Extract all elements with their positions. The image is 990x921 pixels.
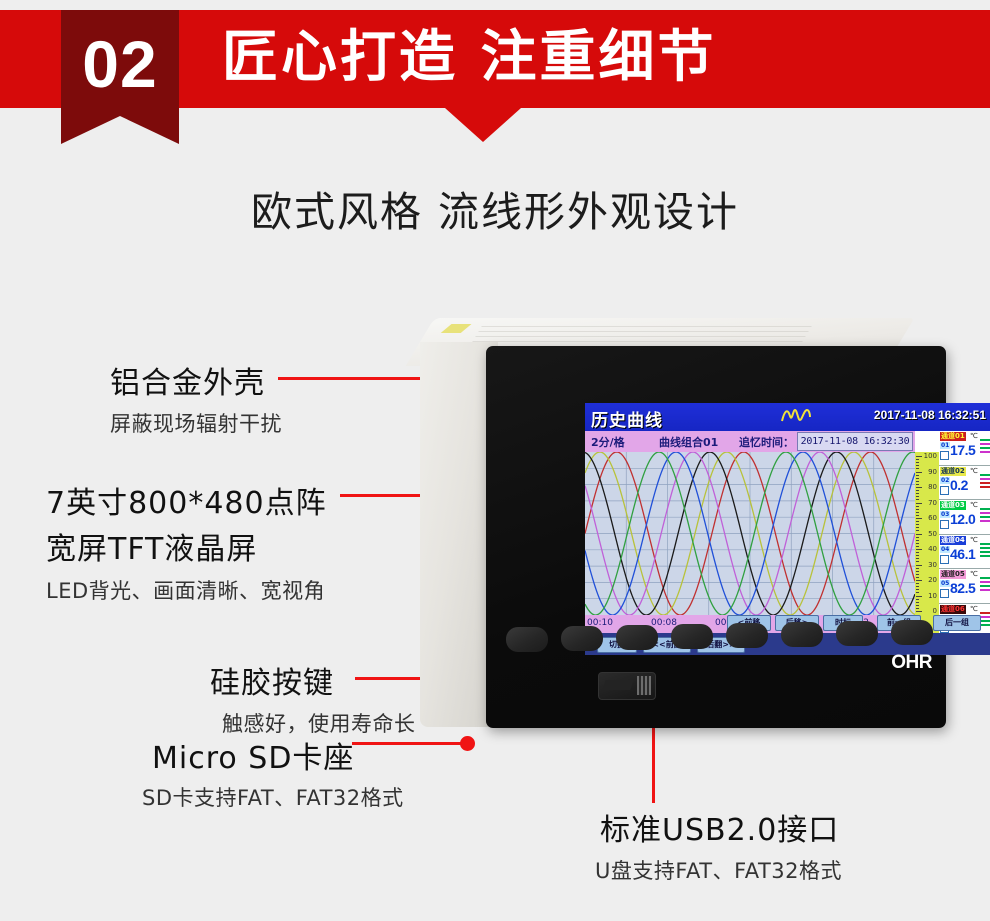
value-axis-minor-tick [916, 515, 919, 516]
value-axis-minor-tick [916, 574, 919, 575]
page-subtitle: 欧式风格 流线形外观设计 [0, 182, 990, 242]
value-axis-minor-tick [916, 546, 919, 547]
value-axis-minor-tick [916, 475, 919, 476]
value-axis-tick: 90 [928, 468, 937, 476]
channel-name-tag: 通道06 [940, 605, 966, 614]
channel-unit: ℃ [970, 432, 978, 440]
lcd-screen[interactable]: 历史曲线 2017-11-08 16:32:51 2分/格 曲线组合01 追忆时… [585, 403, 990, 655]
value-axis-minor-tick [916, 456, 919, 457]
channel-name-tag: 通道03 [940, 501, 966, 510]
value-axis-minor-tick [916, 537, 919, 538]
channel-value: 0.2 [950, 477, 968, 493]
channel-bargraph [980, 474, 990, 490]
value-axis-minor-tick [916, 524, 919, 525]
value-axis-minor-tick [916, 530, 919, 531]
channel-index: 05 [940, 580, 950, 587]
value-axis-minor-tick [916, 592, 919, 593]
value-axis-minor-tick [916, 472, 919, 473]
annotation-usb-port-desc: U盘支持FAT、FAT32格式 [595, 855, 842, 885]
silicone-key[interactable] [891, 620, 933, 645]
value-axis-tick: 60 [928, 514, 937, 522]
channel-name-tag: 通道04 [940, 536, 966, 545]
value-axis-minor-tick [916, 462, 919, 463]
lcd-recall-time[interactable]: 2017-11-08 16:32:30 [797, 432, 913, 451]
silicone-key[interactable] [836, 621, 878, 646]
channel-value: 82.5 [950, 580, 975, 596]
device-front-bezel: 历史曲线 2017-11-08 16:32:51 2分/格 曲线组合01 追忆时… [486, 346, 946, 728]
channel-unit: ℃ [970, 501, 978, 509]
channel-value: 12.0 [950, 511, 975, 527]
channel-value: 17.5 [950, 442, 975, 458]
device-photo: 历史曲线 2017-11-08 16:32:51 2分/格 曲线组合01 追忆时… [414, 318, 954, 758]
brand-logo: OHR [891, 652, 932, 674]
value-axis-minor-tick [916, 565, 919, 566]
lcd-clock: 2017-11-08 16:32:51 [874, 408, 986, 422]
channel-bargraph [980, 577, 990, 593]
lcd-titlebar: 历史曲线 2017-11-08 16:32:51 [585, 403, 990, 431]
value-axis-minor-tick [916, 518, 919, 519]
channel-bargraph [980, 508, 990, 524]
section-number: 02 [61, 26, 179, 102]
value-axis-minor-tick [916, 496, 919, 497]
channel-row[interactable]: 通道01℃0117.5 [939, 431, 990, 466]
channel-index: 02 [940, 477, 950, 484]
annotation-usb-port: 标准USB2.0接口 U盘支持FAT、FAT32格式 [600, 805, 842, 885]
value-axis-minor-tick [916, 493, 919, 494]
silicone-key[interactable] [616, 625, 658, 650]
value-axis-tick: 100 [924, 452, 937, 460]
lcd-recall-label: 追忆时间： [739, 434, 794, 450]
value-axis-minor-tick [916, 558, 919, 559]
annotation-silicone-keys: 硅胶按键 触感好，使用寿命长 [210, 658, 416, 738]
silicone-key-row[interactable] [506, 620, 931, 650]
value-axis-minor-tick [916, 552, 919, 553]
channel-enable-checkbox[interactable] [940, 589, 949, 598]
value-axis-minor-tick [916, 599, 919, 600]
value-axis-minor-tick [916, 561, 919, 562]
value-axis-minor-tick [916, 608, 919, 609]
softkey-houyizu[interactable]: 后一组 [933, 615, 981, 631]
value-axis-minor-tick [916, 468, 919, 469]
lcd-page-title: 历史曲线 [591, 406, 663, 431]
annotation-micro-sd-desc: SD卡支持FAT、FAT32格式 [142, 782, 404, 812]
value-axis-tick: 80 [928, 483, 937, 491]
silicone-key[interactable] [671, 624, 713, 649]
channel-name-tag: 通道01 [940, 432, 966, 441]
silicone-key[interactable] [561, 626, 603, 651]
channel-enable-checkbox[interactable] [940, 555, 949, 564]
waveform-icon [781, 407, 811, 428]
section-ribbon: 02 [61, 10, 179, 144]
annotation-usb-port-title: 标准USB2.0接口 [600, 805, 842, 849]
usb-slot [637, 676, 651, 695]
annotation-tft-screen-desc: LED背光、画面清晰、宽视角 [46, 575, 327, 605]
channel-index: 03 [940, 511, 950, 518]
channel-unit: ℃ [970, 536, 978, 544]
value-axis-tick: 40 [928, 545, 937, 553]
channel-row[interactable]: 通道03℃0312.0 [939, 500, 990, 535]
value-axis-minor-tick [916, 568, 919, 569]
annotation-aluminum-case-title: 铝合金外壳 [110, 358, 282, 402]
channel-row[interactable]: 通道02℃020.2 [939, 466, 990, 501]
value-axis-minor-tick [916, 465, 919, 466]
channel-readout-panel: 通道01℃0117.5通道02℃020.2通道03℃0312.0通道04℃044… [939, 431, 990, 633]
value-axis-minor-tick [916, 611, 919, 612]
value-axis-minor-tick [916, 499, 919, 500]
channel-enable-checkbox[interactable] [940, 451, 949, 460]
channel-index: 04 [940, 546, 950, 553]
trend-chart-svg [585, 452, 915, 615]
annotation-tft-screen-title-line1: 7英寸800*480点阵 [46, 478, 327, 522]
channel-bargraph [980, 439, 990, 455]
channel-enable-checkbox[interactable] [940, 520, 949, 529]
value-axis-minor-tick [916, 534, 919, 535]
annotation-tft-screen-title-line2: 宽屏TFT液晶屏 [46, 524, 327, 568]
channel-value: 46.1 [950, 546, 975, 562]
value-axis-tick: 70 [928, 499, 937, 507]
value-axis-minor-tick [916, 596, 919, 597]
channel-enable-checkbox[interactable] [940, 486, 949, 495]
channel-unit: ℃ [970, 605, 978, 613]
leader-line-aluminum-case [278, 377, 426, 380]
value-axis-tick: 30 [928, 561, 937, 569]
channel-row[interactable]: 通道04℃0446.1 [939, 535, 990, 570]
banner-notch [445, 108, 521, 142]
value-axis-minor-tick [916, 506, 919, 507]
value-axis-ruler: 1009080706050403020100 [915, 452, 939, 633]
value-axis-minor-tick [916, 490, 919, 491]
value-axis-minor-tick [916, 589, 919, 590]
annotation-silicone-keys-title: 硅胶按键 [210, 658, 416, 702]
silicone-key[interactable] [781, 622, 823, 647]
usb-door-tab [602, 680, 633, 690]
silicone-key[interactable] [726, 623, 768, 648]
value-axis-tick: 10 [928, 592, 937, 600]
value-axis-minor-tick [916, 540, 919, 541]
value-axis-minor-tick [916, 580, 919, 581]
value-axis-minor-tick [916, 586, 919, 587]
value-axis-tick: 0 [933, 607, 937, 615]
annotation-aluminum-case-desc: 屏蔽现场辐射干扰 [110, 408, 282, 438]
annotation-tft-screen: 7英寸800*480点阵 宽屏TFT液晶屏 LED背光、画面清晰、宽视角 [46, 478, 327, 605]
value-axis-minor-tick [916, 512, 919, 513]
annotation-aluminum-case: 铝合金外壳 屏蔽现场辐射干扰 [110, 358, 282, 438]
value-axis-minor-tick [916, 549, 919, 550]
value-axis-minor-tick [916, 605, 919, 606]
usb-port-door[interactable] [598, 672, 656, 700]
value-axis-tick: 50 [928, 530, 937, 538]
value-axis-minor-tick [916, 481, 919, 482]
channel-name-tag: 通道05 [940, 570, 966, 579]
value-axis-minor-tick [916, 503, 919, 504]
channel-unit: ℃ [970, 467, 978, 475]
value-axis-tick: 20 [928, 576, 937, 584]
value-axis-minor-tick [916, 521, 919, 522]
value-axis-minor-tick [916, 484, 919, 485]
channel-bargraph [980, 543, 990, 559]
banner-title: 匠心打造 注重细节 [222, 18, 922, 98]
lcd-scale-label: 2分/格 [591, 434, 625, 450]
value-axis-minor-tick [916, 555, 919, 556]
annotation-micro-sd-title: Micro SD卡座 [152, 733, 404, 777]
lcd-group-label: 曲线组合01 [659, 434, 718, 450]
value-axis-minor-tick [916, 602, 919, 603]
value-axis-minor-tick [916, 478, 919, 479]
lcd-toolbar: 2分/格 曲线组合01 追忆时间： 2017-11-08 16:32:30 [585, 431, 915, 453]
value-axis-minor-tick [916, 543, 919, 544]
value-axis-minor-tick [916, 527, 919, 528]
trend-chart [585, 452, 915, 615]
channel-row[interactable]: 通道05℃0582.5 [939, 569, 990, 604]
silicone-key[interactable] [506, 627, 548, 652]
value-axis-minor-tick [916, 583, 919, 584]
value-axis-minor-tick [916, 487, 919, 488]
case-top-sticker [441, 324, 472, 333]
value-axis-minor-tick [916, 571, 919, 572]
value-axis-minor-tick [916, 577, 919, 578]
channel-index: 01 [940, 442, 950, 449]
channel-name-tag: 通道02 [940, 467, 966, 476]
channel-bargraph [980, 612, 990, 628]
value-axis-minor-tick [916, 509, 919, 510]
value-axis-minor-tick [916, 459, 919, 460]
channel-unit: ℃ [970, 570, 978, 578]
